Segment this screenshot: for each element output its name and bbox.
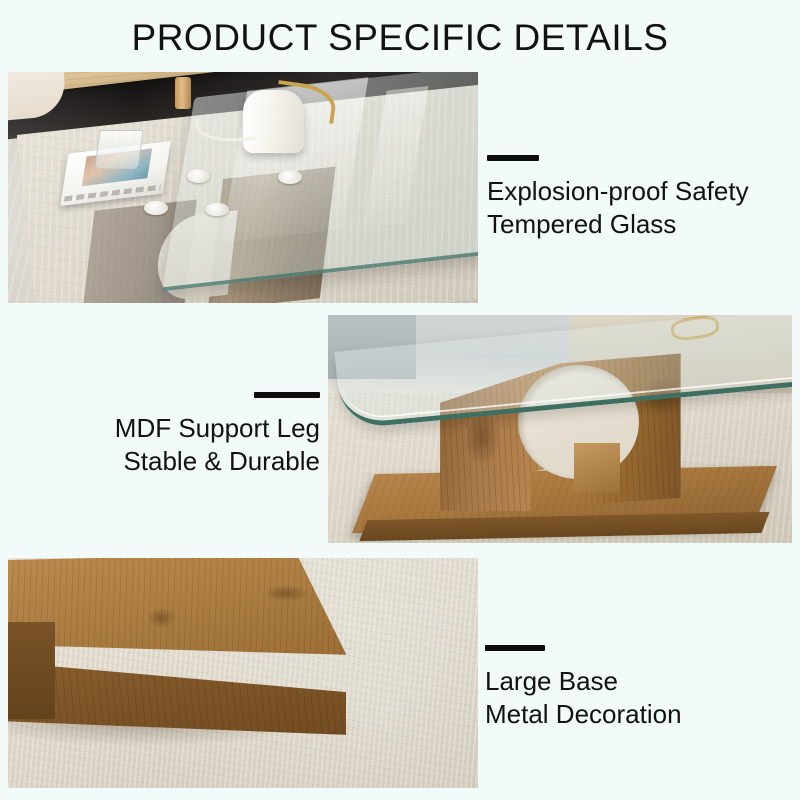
wood-knot bbox=[267, 586, 309, 602]
page-title: PRODUCT SPECIFIC DETAILS bbox=[0, 16, 800, 60]
feature-caption-mdf-support-leg: MDF Support Leg Stable & Durable bbox=[80, 392, 320, 478]
caption-dash-icon bbox=[487, 155, 539, 161]
caption-dash-icon bbox=[254, 392, 320, 398]
leg-cutout-tab bbox=[574, 443, 620, 493]
caption-text: Explosion-proof Safety Tempered Glass bbox=[487, 175, 787, 241]
base-left-edge bbox=[8, 622, 55, 719]
furniture-leg bbox=[175, 77, 191, 109]
caption-dash-icon bbox=[485, 645, 545, 651]
caption-text: MDF Support Leg Stable & Durable bbox=[80, 412, 320, 478]
product-detail-infographic: PRODUCT SPECIFIC DETAILS bbox=[0, 0, 800, 800]
feature-caption-large-base: Large Base Metal Decoration bbox=[485, 645, 785, 731]
feature-image-tempered-glass bbox=[8, 72, 478, 303]
wood-knot bbox=[467, 415, 499, 465]
feature-image-mdf-support-leg bbox=[328, 315, 792, 543]
glass-mount-cap bbox=[187, 169, 211, 183]
glass-mount-cap bbox=[144, 201, 168, 215]
drinking-glass bbox=[95, 130, 145, 169]
glass-mount-cap bbox=[205, 203, 229, 217]
caption-text: Large Base Metal Decoration bbox=[485, 665, 785, 731]
feature-caption-tempered-glass: Explosion-proof Safety Tempered Glass bbox=[487, 155, 787, 241]
feature-image-large-base bbox=[8, 558, 478, 788]
glass-mount-cap bbox=[278, 170, 302, 184]
